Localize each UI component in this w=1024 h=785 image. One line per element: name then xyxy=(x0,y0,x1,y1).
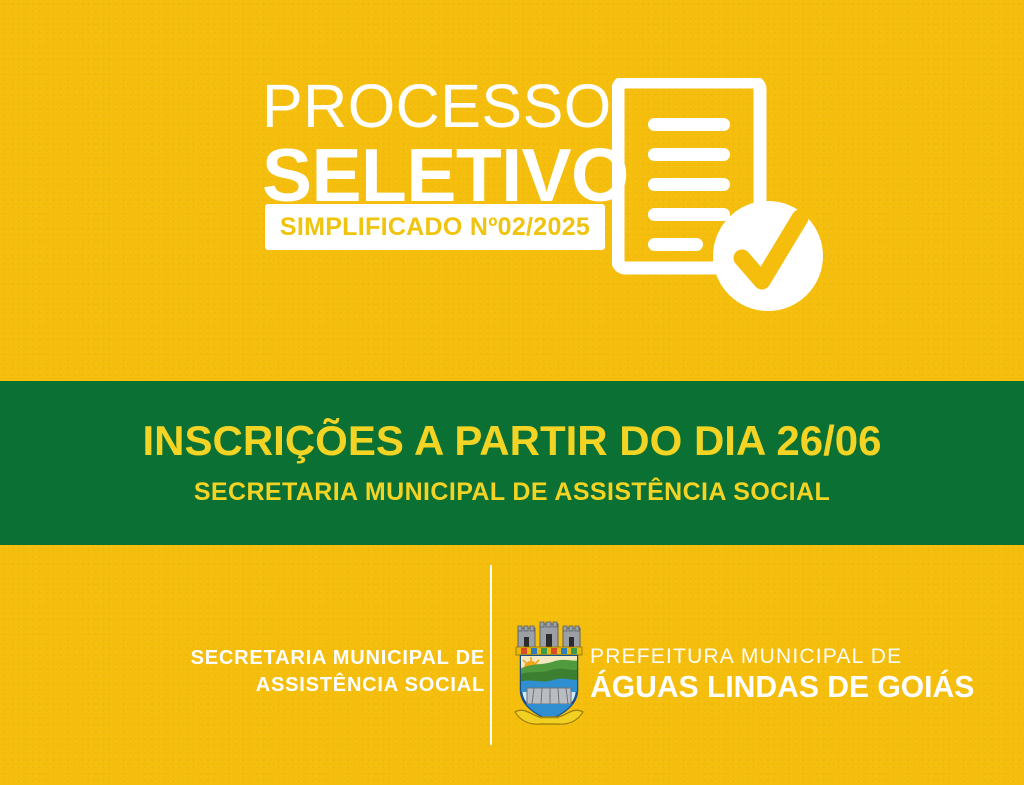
badge-simplificado: SIMPLIFICADO Nº02/2025 xyxy=(265,204,605,250)
banner-subtitle: SECRETARIA MUNICIPAL DE ASSISTÊNCIA SOCI… xyxy=(194,478,830,507)
poster-root: PROCESSO SELETIVO SIMPLIFICADO Nº02/2025 xyxy=(0,0,1024,785)
banner-headline-light: INSCRIÇÕES A PARTIR xyxy=(142,417,607,464)
hero-section: PROCESSO SELETIVO SIMPLIFICADO Nº02/2025 xyxy=(0,0,1024,381)
footer-divider xyxy=(490,565,492,745)
title-processo: PROCESSO xyxy=(262,78,612,136)
badge-label: SIMPLIFICADO Nº02/2025 xyxy=(280,213,590,242)
banner-headline-strong: DO DIA 26/06 xyxy=(619,417,881,464)
banner-headline: INSCRIÇÕES A PARTIR DO DIA 26/06 xyxy=(142,419,881,463)
prefeitura-logo-text: PREFEITURA MUNICIPAL DE ÁGUAS LINDAS DE … xyxy=(590,645,986,704)
prefeitura-logo-line1: PREFEITURA MUNICIPAL DE xyxy=(590,645,986,668)
secretaria-logo-text: SECRETARIA MUNICIPAL DE ASSISTÊNCIA SOCI… xyxy=(140,645,485,699)
title-block: PROCESSO SELETIVO xyxy=(262,78,612,211)
document-check-icon xyxy=(612,78,842,318)
aguas-lindas-de-goias-coat-of-arms-icon xyxy=(511,618,587,726)
prefeitura-logo-line2: ÁGUAS LINDAS DE GOIÁS xyxy=(590,670,974,704)
title-seletivo: SELETIVO xyxy=(262,140,612,211)
green-banner: INSCRIÇÕES A PARTIR DO DIA 26/06 SECRETA… xyxy=(0,381,1024,545)
secretaria-logo-line1: SECRETARIA MUNICIPAL DE xyxy=(140,645,485,672)
secretaria-logo-line2: ASSISTÊNCIA SOCIAL xyxy=(140,672,485,699)
